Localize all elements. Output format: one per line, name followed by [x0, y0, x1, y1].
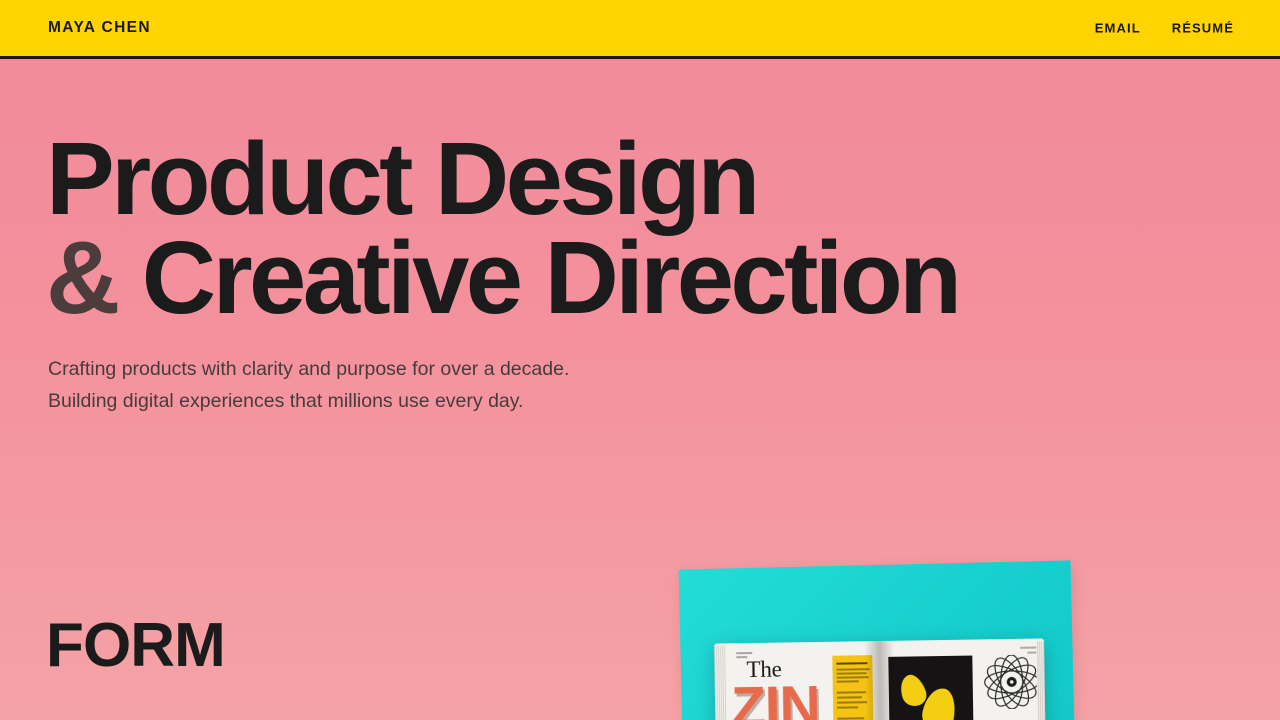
- nav-link-email[interactable]: EMAIL: [1095, 21, 1141, 36]
- page-title: Product Design & Creative Direction: [46, 130, 958, 328]
- atom-diagram-icon: [982, 654, 1041, 709]
- magazine-black-panel: [888, 656, 974, 720]
- magazine-right-page: [878, 638, 1046, 720]
- headline-line-2: & Creative Direction: [46, 229, 958, 328]
- magazine-photo: The ZIN: [655, 545, 1125, 720]
- headline-line-2-text: Creative Direction: [142, 220, 959, 335]
- hero-subtitle-line-1: Crafting products with clarity and purpo…: [48, 353, 569, 385]
- magazine-page-edge-left: [714, 645, 727, 720]
- brand-logo[interactable]: MAYA CHEN: [48, 19, 151, 37]
- magazine-title-text: ZIN: [731, 678, 820, 720]
- hero-subtitle-line-2: Building digital experiences that millio…: [48, 385, 569, 417]
- open-magazine: The ZIN: [714, 638, 1046, 720]
- magazine-left-page: The ZIN: [714, 641, 880, 720]
- page-root: MAYA CHEN EMAIL RÉSUMÉ Product Design & …: [0, 0, 1280, 720]
- site-header: MAYA CHEN EMAIL RÉSUMÉ: [0, 0, 1280, 59]
- hero-subtitle: Crafting products with clarity and purpo…: [48, 353, 569, 417]
- headline-ampersand: &: [46, 220, 117, 335]
- headline-line-1: Product Design: [46, 121, 757, 236]
- main-navigation: EMAIL RÉSUMÉ: [1095, 21, 1234, 36]
- nav-link-resume[interactable]: RÉSUMÉ: [1172, 21, 1234, 36]
- section-title-form: FORM: [46, 610, 225, 681]
- magazine-spine: [864, 641, 896, 720]
